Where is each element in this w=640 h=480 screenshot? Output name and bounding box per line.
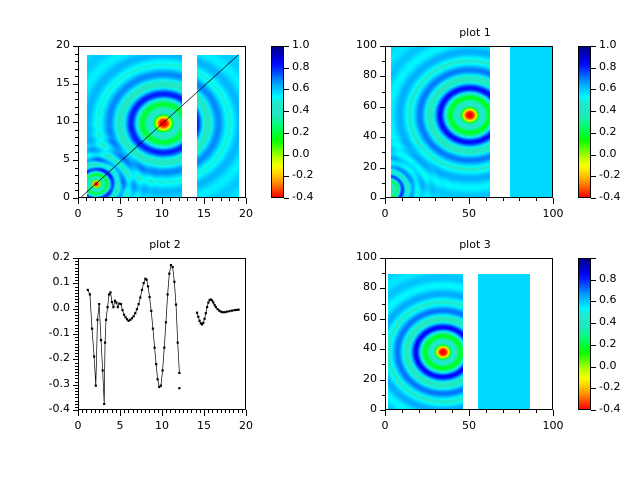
- plot3-colorbar-gradient: [579, 259, 590, 409]
- plot3-xtick-label: 0: [360, 419, 410, 432]
- plot3-ytick-minor: [382, 319, 385, 320]
- plot3-ytick-label: 40: [315, 341, 377, 354]
- plot3-field-canvas-1: [478, 274, 530, 409]
- plot3-colorbar-tick: [591, 367, 596, 368]
- plot3-colorbar[interactable]: [578, 258, 591, 410]
- plot3-xtick-minor: [435, 410, 436, 413]
- plot3-colorbar-tick: [591, 323, 596, 324]
- plot3-ytick-label: 80: [315, 280, 377, 293]
- plot3-title: plot 3: [350, 238, 600, 251]
- plot3-ytick-minor: [382, 304, 385, 305]
- figure-canvas: 0510152005101520-0.4-0.20.00.20.40.60.81…: [0, 0, 640, 480]
- plot3-ytick-label: 0: [315, 402, 377, 415]
- plot3-ytick-minor: [382, 334, 385, 335]
- plot3-xtick-minor: [419, 410, 420, 413]
- plot3-ytick-label: 60: [315, 311, 377, 324]
- plot3-xtick-minor: [385, 410, 386, 413]
- plot3-xtick-minor: [469, 410, 470, 413]
- plot3-colorbar-tick: [591, 280, 596, 281]
- plot3-ytick-label: 20: [315, 372, 377, 385]
- plot3-xtick-minor: [452, 410, 453, 413]
- plot3-colorbar-tick: [591, 345, 596, 346]
- plot3-colorbar-tick-label: -0.2: [599, 380, 640, 393]
- plot3-field-canvas-0: [388, 274, 464, 409]
- plot3-axes[interactable]: [385, 258, 553, 410]
- plot3-ytick-minor: [382, 258, 385, 259]
- plot3-colorbar-tick-label: -0.4: [599, 402, 640, 415]
- plot3-ytick-minor: [382, 364, 385, 365]
- plot3-xtick-minor: [503, 410, 504, 413]
- plot3-colorbar-tick: [591, 410, 596, 411]
- plot3-colorbar-tick: [591, 258, 596, 259]
- plot3-ytick-label: 100: [315, 250, 377, 263]
- plot3-xtick-minor: [402, 410, 403, 413]
- plot3-xtick-label: 50: [444, 419, 494, 432]
- plot3-colorbar-tick-label: 0.8: [599, 272, 640, 285]
- plot3-colorbar-tick: [591, 388, 596, 389]
- plot3-image-right-field: [478, 274, 530, 409]
- plot3-xtick-label: 100: [528, 419, 578, 432]
- plot3-colorbar-tick-label: 0.0: [599, 359, 640, 372]
- plot3-image-left-field: [388, 274, 464, 409]
- plot3-xtick-minor: [519, 410, 520, 413]
- plot3-xtick-minor: [553, 410, 554, 413]
- plot3-ytick-minor: [382, 380, 385, 381]
- plot3-colorbar-tick-label: 0.2: [599, 337, 640, 350]
- plot3-ytick-minor: [382, 395, 385, 396]
- plot3-ytick-minor: [382, 273, 385, 274]
- plot3-ytick-minor: [382, 288, 385, 289]
- plot3-xtick-minor: [536, 410, 537, 413]
- panel-plot3: plot 3020406080100050100-0.4-0.20.00.20.…: [0, 0, 640, 480]
- plot3-colorbar-tick-label: 0.6: [599, 293, 640, 306]
- plot3-ytick-minor: [382, 349, 385, 350]
- plot3-xtick-minor: [486, 410, 487, 413]
- plot3-colorbar-tick-label: 0.4: [599, 315, 640, 328]
- plot3-colorbar-tick: [591, 301, 596, 302]
